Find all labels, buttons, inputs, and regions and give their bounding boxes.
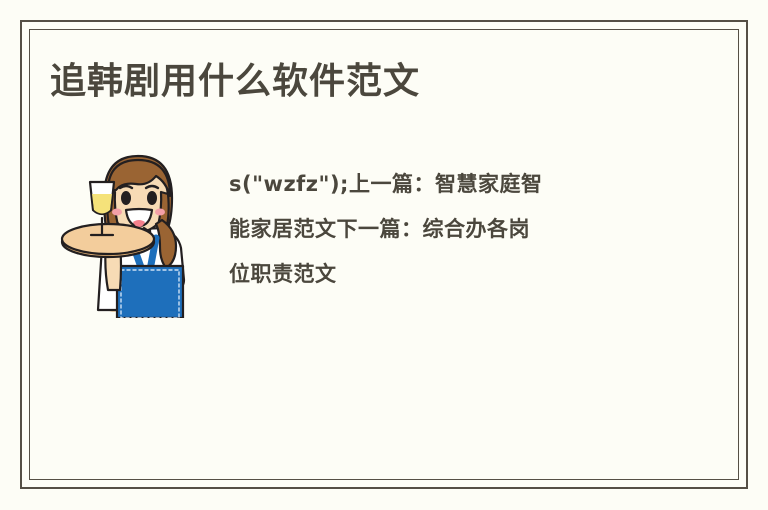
body-line: s("wzfz");上一篇：智慧家庭智 (229, 162, 659, 207)
page-content: 追韩剧用什么软件范文 (0, 0, 768, 510)
body-line: 位职责范文 (229, 252, 659, 297)
article-body: s("wzfz");上一篇：智慧家庭智 能家居范文下一篇：综合办各岗 位职责范文 (229, 162, 659, 297)
waitress-illustration (60, 138, 210, 318)
page-title: 追韩剧用什么软件范文 (50, 60, 420, 104)
page-root: 追韩剧用什么软件范文 (0, 0, 768, 510)
body-line: 能家居范文下一篇：综合办各岗 (229, 207, 659, 252)
